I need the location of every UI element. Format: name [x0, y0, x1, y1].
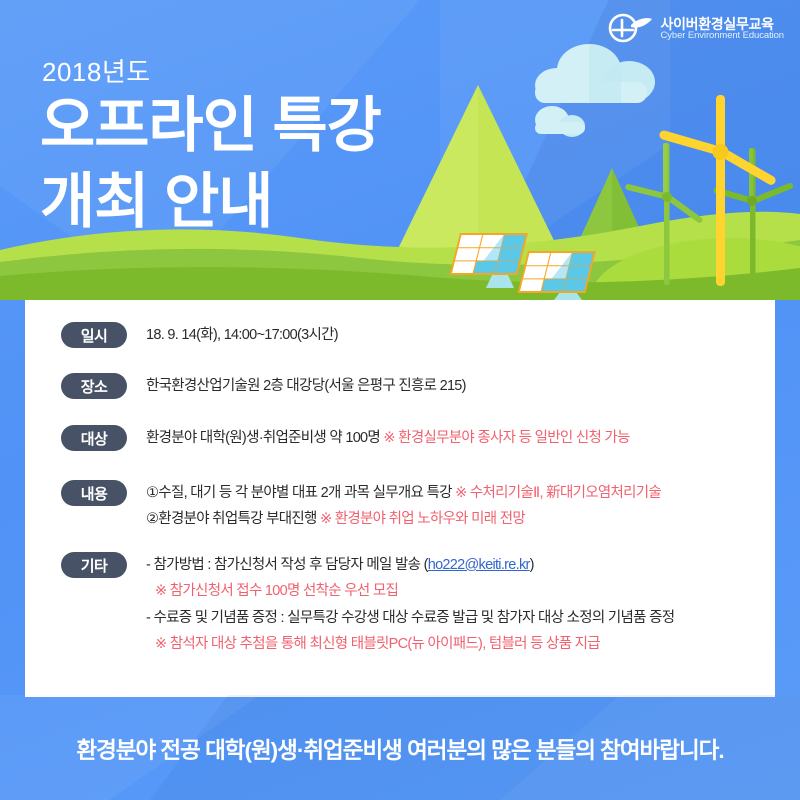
info-line: 한국환경산업기술원 2층 대강당(서울 은평구 진흥로 215) — [146, 375, 466, 397]
info-row-jangso: 장소 한국환경산업기술원 2층 대강당(서울 은평구 진흥로 215) — [61, 373, 466, 399]
row-body-jangso: 한국환경산업기술원 2층 대강당(서울 은평구 진흥로 215) — [146, 373, 466, 397]
text-segment: ) — [530, 557, 534, 573]
text-segment: - 수료증 및 기념품 증정 : 실무특강 수강생 대상 수료증 발급 및 참가… — [146, 610, 674, 626]
row-label-daesang: 대상 — [61, 425, 127, 451]
info-line: 환경분야 대학(원)생·취업준비생 약 100명 ※ 환경실무분야 종사자 등 … — [146, 427, 630, 449]
logo-text-block: 사이버환경실무교육 Cyber Environment Education — [660, 17, 784, 42]
text-segment-note: ※ 환경실무분야 종사자 등 일반인 신청 가능 — [383, 430, 629, 446]
info-line: ※ 참가신청서 접수 100명 선착순 우선 모집 — [146, 580, 674, 602]
info-line: ※ 참석자 대상 추첨을 통해 최신형 태블릿PC(뉴 아이패드), 텀블러 등… — [146, 633, 674, 655]
text-segment: - 참가방법 : 참가신청서 작성 후 담당자 메일 발송 ( — [146, 557, 428, 573]
footer-message: 환경분야 전공 대학(원)생·취업준비생 여러분의 많은 분들의 참여바랍니다. — [76, 733, 723, 765]
info-row-naeyong: 내용 ①수질, 대기 등 각 분야별 대표 2개 과목 실무개요 특강 ※ 수처… — [61, 480, 661, 531]
text-segment: ①수질, 대기 등 각 분야별 대표 2개 과목 실무개요 특강 — [146, 485, 455, 501]
year-label: 2018년도 — [42, 52, 151, 89]
text-segment: 한국환경산업기술원 2층 대강당(서울 은평구 진흥로 215) — [146, 378, 466, 394]
row-label-ilsi: 일시 — [61, 322, 127, 348]
info-line: ②환경분야 취업특강 부대진행 ※ 환경분야 취업 노하우와 미래 전망 — [146, 508, 661, 530]
poster-footer: 환경분야 전공 대학(원)생·취업준비생 여러분의 많은 분들의 참여바랍니다. — [0, 697, 800, 800]
info-line: - 참가방법 : 참가신청서 작성 후 담당자 메일 발송 (ho222@kei… — [146, 554, 674, 576]
row-body-daesang: 환경분야 대학(원)생·취업준비생 약 100명 ※ 환경실무분야 종사자 등 … — [146, 425, 630, 449]
info-row-daesang: 대상 환경분야 대학(원)생·취업준비생 약 100명 ※ 환경실무분야 종사자… — [61, 425, 630, 451]
row-body-naeyong: ①수질, 대기 등 각 분야별 대표 2개 과목 실무개요 특강 ※ 수처리기술… — [146, 480, 661, 531]
text-segment-note: ※ 참가신청서 접수 100명 선착순 우선 모집 — [155, 583, 398, 599]
info-line: - 수료증 및 기념품 증정 : 실무특강 수강생 대상 수료증 발급 및 참가… — [146, 607, 674, 629]
row-label-gita: 기타 — [61, 552, 127, 578]
e-leaf-logo-icon — [607, 12, 653, 46]
info-line: ①수질, 대기 등 각 분야별 대표 2개 과목 실무개요 특강 ※ 수처리기술… — [146, 482, 661, 504]
page-title-line2: 개최 안내 — [40, 168, 272, 236]
page-title-line1: 오프라인 특강 — [40, 92, 381, 160]
text-segment-note: ※ 참석자 대상 추첨을 통해 최신형 태블릿PC(뉴 아이패드), 텀블러 등… — [155, 636, 600, 652]
text-segment-note: ※ 수처리기술Ⅱ, 新대기오염처리기술 — [455, 485, 661, 501]
row-label-naeyong: 내용 — [61, 480, 127, 506]
contact-email-link[interactable]: ho222@keiti.re.kr — [428, 557, 530, 573]
text-segment: 18. 9. 14(화), 14:00~17:00(3시간) — [146, 327, 338, 343]
info-row-gita: 기타 - 참가방법 : 참가신청서 작성 후 담당자 메일 발송 (ho222@… — [61, 552, 674, 656]
info-row-ilsi: 일시 18. 9. 14(화), 14:00~17:00(3시간) — [61, 322, 338, 348]
info-line: 18. 9. 14(화), 14:00~17:00(3시간) — [146, 324, 338, 346]
text-segment-note: ※ 환경분야 취업 노하우와 미래 전망 — [320, 511, 525, 527]
brand-logo: 사이버환경실무교육 Cyber Environment Education — [607, 12, 784, 46]
info-card: 일시 18. 9. 14(화), 14:00~17:00(3시간) 장소 한국환… — [25, 300, 775, 697]
row-body-ilsi: 18. 9. 14(화), 14:00~17:00(3시간) — [146, 322, 338, 346]
row-label-jangso: 장소 — [61, 373, 127, 399]
logo-english-name: Cyber Environment Education — [660, 31, 784, 41]
row-body-gita: - 참가방법 : 참가신청서 작성 후 담당자 메일 발송 (ho222@kei… — [146, 552, 674, 656]
text-segment: ②환경분야 취업특강 부대진행 — [146, 511, 320, 527]
text-segment: 환경분야 대학(원)생·취업준비생 약 100명 — [146, 430, 383, 446]
poster-root: 2018년도 오프라인 특강 개최 안내 사이버환경실무교육 Cyber Env… — [0, 0, 800, 800]
logo-korean-name: 사이버환경실무교육 — [660, 17, 784, 32]
